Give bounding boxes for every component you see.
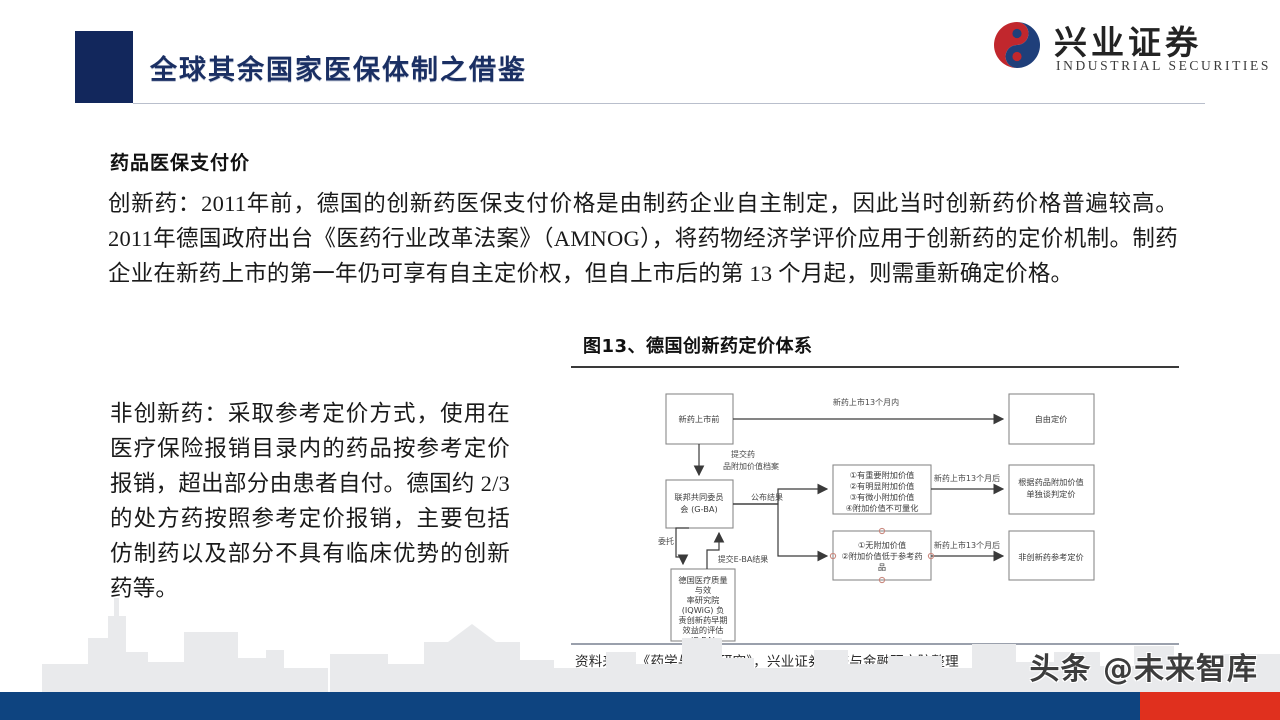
edge-label-within-13m: 新药上市13个月内	[833, 397, 899, 407]
figure-title: 图13、德国创新药定价体系	[583, 332, 813, 358]
company-logo: 兴业证券 INDUSTRIAL SECURITIES	[992, 16, 1254, 78]
node-value-high-item-1: ①有重要附加价值	[850, 470, 915, 480]
node-free-pricing-label: 自由定价	[1035, 414, 1068, 424]
node-gba-label-2: 会 (G-BA)	[680, 504, 717, 514]
edge-gba-to-low	[733, 504, 827, 556]
footer-bar-blue	[0, 692, 1140, 720]
logo-text-cn: 兴业证券	[1054, 16, 1202, 64]
node-value-low-item-2: ②附加价值低于参考药	[841, 551, 922, 561]
edge-label-submit-dossier-1: 提交药	[731, 449, 755, 459]
node-value-high-item-3: ③有微小附加价值	[850, 492, 915, 502]
edge-label-after-13m-upper: 新药上市13个月后	[934, 473, 1000, 483]
edge-label-publish-result: 公布结果	[751, 492, 783, 502]
node-negotiated-pricing-label-2: 单独谈判定价	[1026, 489, 1075, 499]
node-value-high-item-4: ④附加价值不可量化	[846, 503, 919, 513]
footer-bar-red	[1140, 692, 1280, 720]
edge-label-submit-dossier-2: 品附加价值档案	[723, 461, 779, 471]
edge-label-commission: 委托	[658, 536, 674, 546]
figure-top-rule	[571, 366, 1179, 368]
node-pre-launch-label: 新药上市前	[679, 414, 720, 424]
paragraph-innovative-drugs: 创新药：2011年前，德国的创新药医保支付价格是由制药企业自主制定，因此当时创新…	[108, 186, 1178, 291]
header-accent-block	[75, 31, 133, 103]
node-value-low-item-3: 品	[878, 562, 886, 572]
logo-text-en: INDUSTRIAL SECURITIES	[1056, 58, 1271, 74]
node-negotiated-pricing-label-1: 根据药品附加价值	[1018, 477, 1084, 487]
logo-swirl-icon	[992, 20, 1042, 70]
node-value-low-item-1: ①无附加价值	[858, 540, 906, 550]
node-value-high-item-2: ②有明显附加价值	[850, 481, 915, 491]
header-divider	[133, 103, 1205, 104]
section-heading: 药品医保支付价	[110, 148, 250, 175]
edge-label-after-13m-lower: 新药上市13个月后	[934, 540, 1000, 550]
node-gba-label-1: 联邦共同委员	[674, 492, 723, 502]
node-reference-pricing-label: 非创新药参考定价	[1018, 552, 1084, 562]
page-title: 全球其余国家医保体制之借鉴	[150, 48, 527, 87]
edge-label-submit-eba: 提交E-BA结果	[718, 554, 769, 564]
watermark: 头条 @未来智库	[1030, 644, 1258, 688]
edge-gba-to-iqwig	[676, 528, 689, 564]
